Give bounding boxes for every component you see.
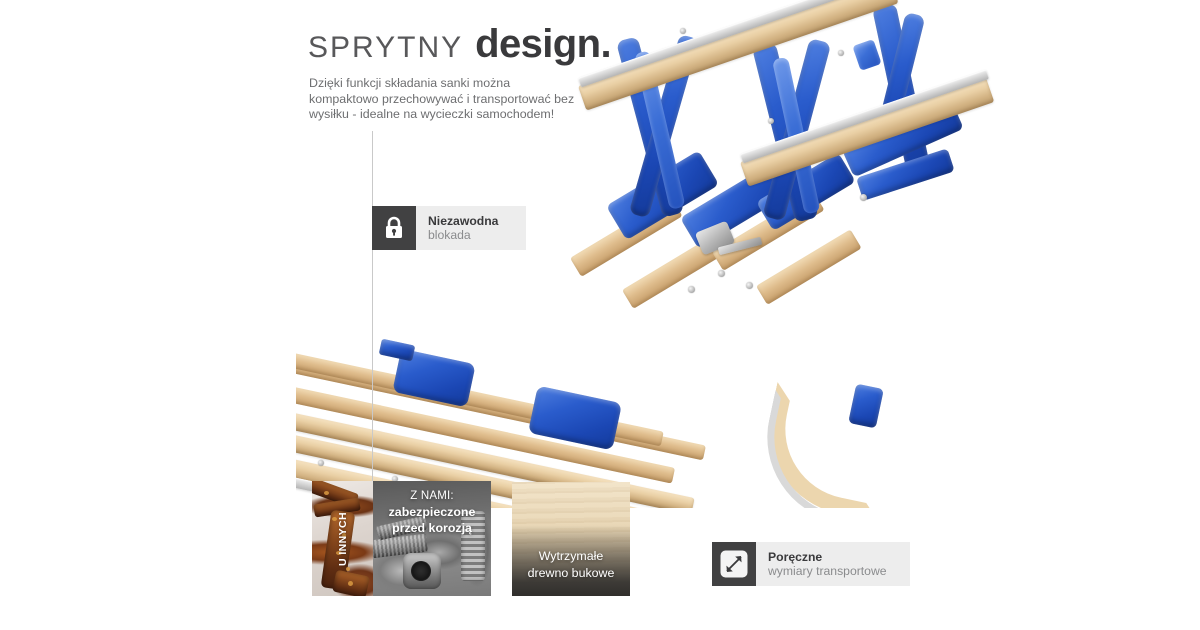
page-description: Dzięki funkcji składania sanki można kom… [309,76,577,123]
wood-material-tile: Wytrzymałe drewno bukowe [512,482,630,596]
comparison-after-caption: Z NAMI: zabezpieczone przed korozją [373,489,491,536]
lock-badge-title: Niezawodna [428,214,512,228]
feature-badge-lock: Niezawodna blokada [372,206,526,250]
product-photo-folded-sled [296,298,936,508]
lock-icon-container [372,206,416,250]
dimensions-badge-text: Poręczne wymiary transportowe [756,542,910,586]
lock-badge-text: Niezawodna blokada [416,206,526,250]
page-title-bold: design. [475,22,611,67]
page-title: SPRYTNY design. [308,22,611,67]
wood-tile-caption: Wytrzymałe drewno bukowe [512,548,630,582]
diagonal-arrow-icon-container [712,542,756,586]
diagonal-arrow-icon [719,549,749,579]
wood-caption-line2: drewno bukowe [512,565,630,582]
page-title-light: SPRYTNY [308,31,463,65]
corrosion-comparison: U INNYCH Z NAMI: zabezpieczone przed kor… [312,481,491,596]
feature-badge-dimensions: Poręczne wymiary transportowe [712,542,910,586]
comparison-before-label: U INNYCH [337,512,349,566]
product-photo-folding-mechanism [560,0,1200,340]
lock-badge-subtitle: blokada [428,228,512,243]
lock-icon [383,216,405,240]
connector-line [372,131,373,489]
comparison-after-line1: Z NAMI: [373,489,491,504]
comparison-after-line3: przed korozją [373,520,491,536]
comparison-tile-after: Z NAMI: zabezpieczone przed korozją [373,481,491,596]
wood-caption-line1: Wytrzymałe [512,548,630,565]
comparison-after-line2: zabezpieczone [373,504,491,520]
dimensions-badge-subtitle: wymiary transportowe [768,564,896,579]
dimensions-badge-title: Poręczne [768,550,896,564]
comparison-tile-before: U INNYCH [312,481,373,596]
